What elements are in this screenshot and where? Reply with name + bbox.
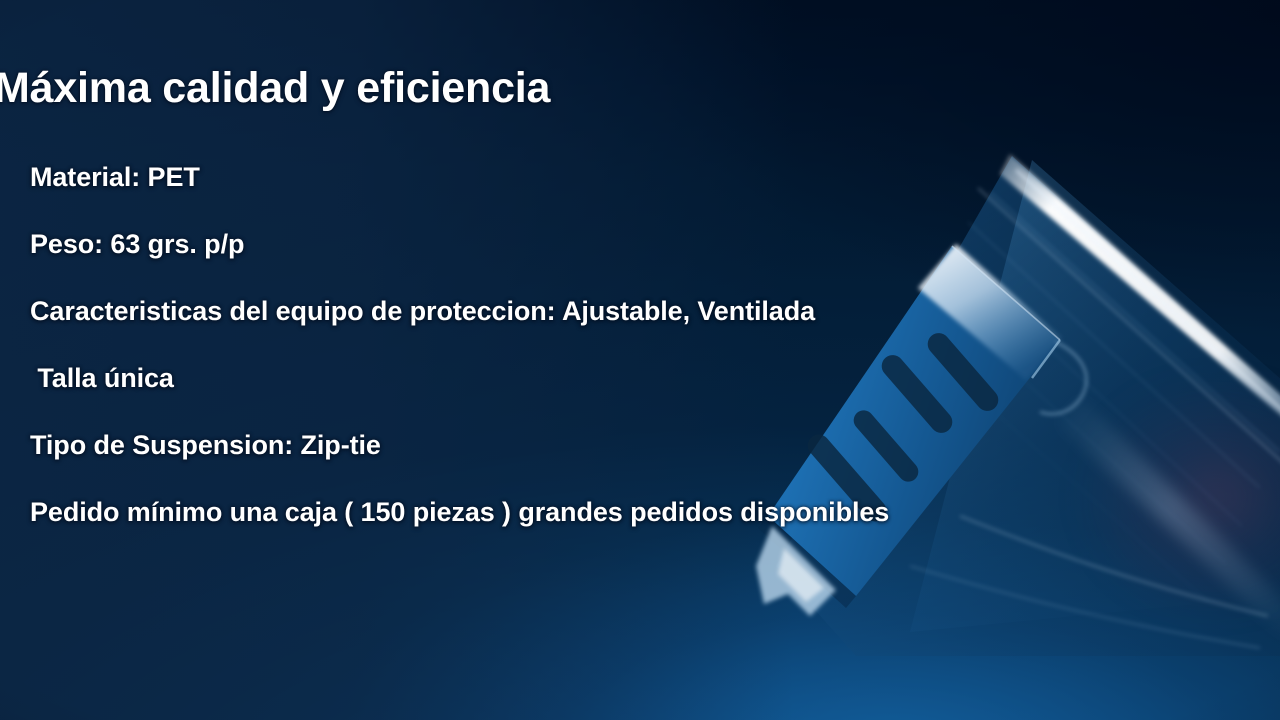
product-banner: Máxima calidad y eficiencia Material: PE… (0, 0, 1280, 720)
spec-line-pedido-minimo: Pedido mínimo una caja ( 150 piezas ) gr… (30, 499, 1270, 566)
spec-list: Material: PET Peso: 63 grs. p/p Caracter… (30, 164, 1270, 566)
spec-line-peso: Peso: 63 grs. p/p (30, 231, 1270, 298)
spec-line-material: Material: PET (30, 164, 1270, 231)
spec-line-suspension: Tipo de Suspension: Zip-tie (30, 432, 1270, 499)
spec-line-caracteristicas: Caracteristicas del equipo de proteccion… (30, 298, 1270, 365)
spec-line-talla: Talla única (30, 365, 1270, 432)
page-title: Máxima calidad y eficiencia (0, 64, 550, 112)
